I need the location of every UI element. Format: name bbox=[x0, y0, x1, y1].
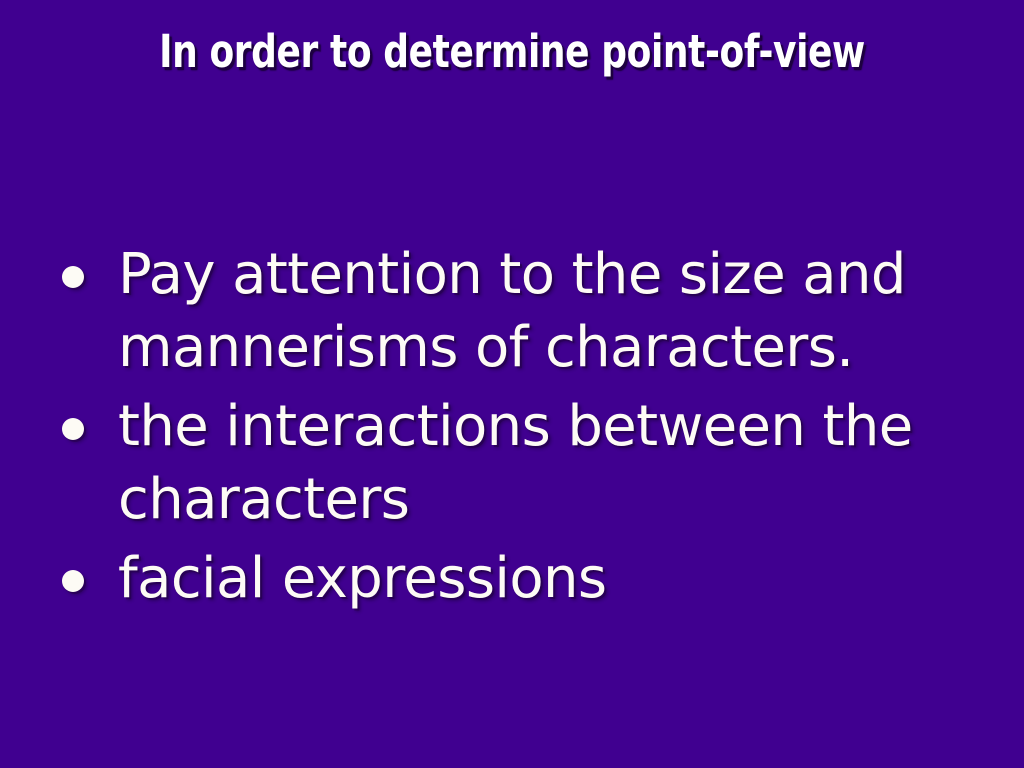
bullet-point-icon bbox=[62, 418, 84, 440]
list-item: facial expressions bbox=[56, 542, 986, 615]
bullet-point-icon bbox=[62, 266, 84, 288]
bullet-list: Pay attention to the size and mannerisms… bbox=[56, 238, 986, 621]
list-item-text: facial expressions bbox=[118, 542, 986, 615]
bullet-point-icon bbox=[62, 570, 84, 592]
presentation-slide: In order to determine point-of-view Pay … bbox=[0, 0, 1024, 768]
list-item-text: Pay attention to the size and mannerisms… bbox=[118, 238, 986, 384]
slide-title: In order to determine point-of-view bbox=[102, 26, 921, 78]
list-item: the interactions between the characters bbox=[56, 390, 986, 536]
list-item: Pay attention to the size and mannerisms… bbox=[56, 238, 986, 384]
list-item-text: the interactions between the characters bbox=[118, 390, 986, 536]
